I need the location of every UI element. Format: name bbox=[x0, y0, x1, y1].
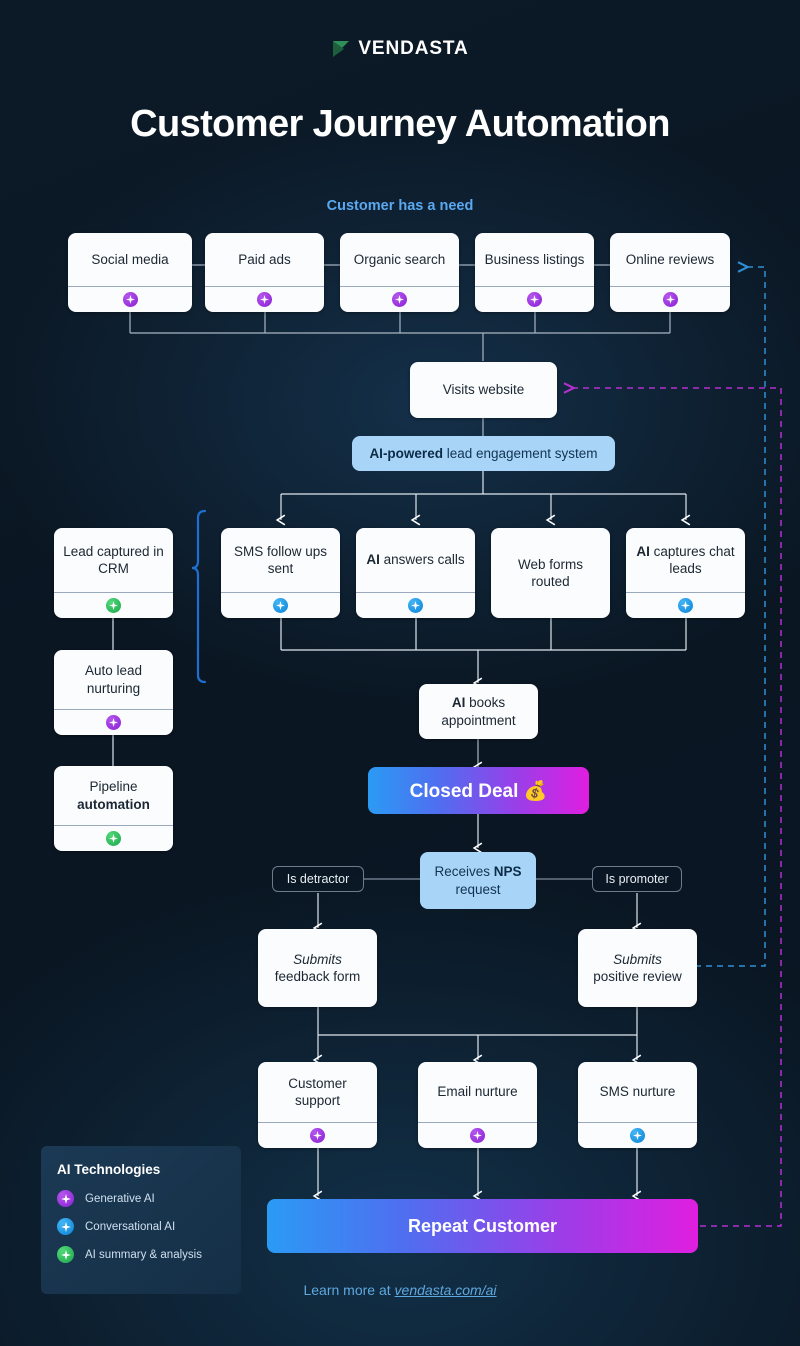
legend-label: Generative AI bbox=[85, 1193, 155, 1205]
vendasta-triangle-logo-icon bbox=[331, 39, 351, 59]
node-footer bbox=[221, 592, 340, 618]
feedback-form-label: feedback form bbox=[275, 969, 361, 984]
node-label: AI captures chat leads bbox=[626, 528, 745, 592]
node-online-reviews[interactable]: Online reviews bbox=[610, 233, 730, 312]
banner-closed-deal[interactable]: Closed Deal 💰 bbox=[368, 767, 589, 814]
node-receives-nps-request[interactable]: Receives NPSrequest bbox=[420, 852, 536, 909]
conversational-ai-icon bbox=[408, 598, 423, 613]
nps-line2: request bbox=[455, 882, 500, 897]
node-footer bbox=[578, 1122, 697, 1148]
positive-review-label: positive review bbox=[593, 969, 682, 984]
generative-ai-icon bbox=[470, 1128, 485, 1143]
generative-ai-icon bbox=[257, 292, 272, 307]
node-label: Auto lead nurturing bbox=[54, 650, 173, 709]
node-label: AI books appointment bbox=[419, 684, 538, 739]
node-label: SMS nurture bbox=[578, 1062, 697, 1122]
node-ai-answers-calls[interactable]: AI answers calls bbox=[356, 528, 475, 618]
node-label: Web forms routed bbox=[491, 528, 610, 618]
node-label: Social media bbox=[68, 233, 192, 286]
conversational-ai-icon bbox=[630, 1128, 645, 1143]
conversational-ai-icon bbox=[273, 598, 288, 613]
node-label: Visits website bbox=[410, 362, 557, 418]
node-ai-captures-chat-leads[interactable]: AI captures chat leads bbox=[626, 528, 745, 618]
footer-url-link[interactable]: vendasta.com/ai bbox=[395, 1282, 497, 1298]
legend-panel: AI Technologies Generative AI Conversati… bbox=[41, 1146, 241, 1294]
nps-line1-plain: Receives bbox=[434, 864, 493, 879]
node-label: Email nurture bbox=[418, 1062, 537, 1122]
ai-summary-icon bbox=[106, 598, 121, 613]
ai-captures-rest: captures chat leads bbox=[650, 544, 735, 576]
ai-answers-rest: answers calls bbox=[380, 552, 465, 567]
node-label: Organic search bbox=[340, 233, 459, 286]
engagement-system-rest: lead engagement system bbox=[443, 446, 598, 461]
node-footer bbox=[205, 286, 324, 312]
node-ai-engagement-system[interactable]: AI-powered lead engagement system bbox=[352, 436, 615, 471]
legend-item-generative-ai: Generative AI bbox=[57, 1190, 225, 1207]
infographic-canvas: VENDASTA Customer Journey Automation Cus… bbox=[0, 0, 800, 1346]
legend-item-conversational-ai: Conversational AI bbox=[57, 1218, 225, 1235]
node-web-forms-routed[interactable]: Web forms routed bbox=[491, 528, 610, 618]
generative-ai-icon bbox=[527, 292, 542, 307]
node-submits-feedback-form[interactable]: Submitsfeedback form bbox=[258, 929, 377, 1007]
node-sms-nurture[interactable]: SMS nurture bbox=[578, 1062, 697, 1148]
node-sms-follow-ups[interactable]: SMS follow ups sent bbox=[221, 528, 340, 618]
node-footer bbox=[340, 286, 459, 312]
subtitle-customer-need: Customer has a need bbox=[0, 198, 800, 214]
node-lead-captured-in-crm[interactable]: Lead captured in CRM bbox=[54, 528, 173, 618]
legend-label: Conversational AI bbox=[85, 1221, 175, 1233]
node-email-nurture[interactable]: Email nurture bbox=[418, 1062, 537, 1148]
ai-summary-icon bbox=[106, 831, 121, 846]
pill-is-promoter[interactable]: Is promoter bbox=[592, 866, 682, 892]
generative-ai-icon bbox=[106, 715, 121, 730]
node-social-media[interactable]: Social media bbox=[68, 233, 192, 312]
node-visits-website[interactable]: Visits website bbox=[410, 362, 557, 418]
pipeline-line2: automation bbox=[77, 797, 150, 812]
conversational-ai-icon bbox=[678, 598, 693, 613]
node-auto-lead-nurturing[interactable]: Auto lead nurturing bbox=[54, 650, 173, 735]
sparkle-icon bbox=[57, 1218, 74, 1235]
node-paid-ads[interactable]: Paid ads bbox=[205, 233, 324, 312]
node-footer bbox=[54, 709, 173, 735]
sparkle-icon bbox=[57, 1190, 74, 1207]
node-label: SMS follow ups sent bbox=[221, 528, 340, 592]
generative-ai-icon bbox=[663, 292, 678, 307]
footer-learn-more: Learn more at vendasta.com/ai bbox=[0, 1282, 800, 1298]
submits-italic: Submits bbox=[613, 952, 662, 967]
node-organic-search[interactable]: Organic search bbox=[340, 233, 459, 312]
sparkle-icon bbox=[57, 1246, 74, 1263]
pipeline-line1: Pipeline bbox=[89, 779, 137, 794]
legend-item-ai-summary: AI summary & analysis bbox=[57, 1246, 225, 1263]
node-ai-books-appointment[interactable]: AI books appointment bbox=[419, 684, 538, 739]
nps-line1-bold: NPS bbox=[494, 864, 522, 879]
node-footer bbox=[258, 1122, 377, 1148]
ai-captures-bold: AI bbox=[636, 544, 650, 559]
node-footer bbox=[626, 592, 745, 618]
ai-answers-bold: AI bbox=[366, 552, 380, 567]
node-label: Online reviews bbox=[610, 233, 730, 286]
node-label: Lead captured in CRM bbox=[54, 528, 173, 592]
node-footer bbox=[418, 1122, 537, 1148]
banner-repeat-customer[interactable]: Repeat Customer bbox=[267, 1199, 698, 1253]
node-submits-positive-review[interactable]: Submitspositive review bbox=[578, 929, 697, 1007]
node-business-listings[interactable]: Business listings bbox=[475, 233, 594, 312]
engagement-system-bold: AI-powered bbox=[369, 446, 443, 461]
generative-ai-icon bbox=[123, 292, 138, 307]
node-label: Business listings bbox=[475, 233, 594, 286]
node-label: Customer support bbox=[258, 1062, 377, 1122]
node-label: AI answers calls bbox=[356, 528, 475, 592]
submits-italic: Submits bbox=[293, 952, 342, 967]
node-label: Submitspositive review bbox=[578, 929, 697, 1007]
pill-is-detractor[interactable]: Is detractor bbox=[272, 866, 364, 892]
node-label: Paid ads bbox=[205, 233, 324, 286]
node-footer bbox=[356, 592, 475, 618]
node-footer bbox=[54, 592, 173, 618]
legend-label: AI summary & analysis bbox=[85, 1249, 202, 1261]
generative-ai-icon bbox=[310, 1128, 325, 1143]
node-footer bbox=[610, 286, 730, 312]
node-label: Pipelineautomation bbox=[54, 766, 173, 825]
node-footer bbox=[475, 286, 594, 312]
node-customer-support[interactable]: Customer support bbox=[258, 1062, 377, 1148]
footer-prefix: Learn more at bbox=[303, 1282, 394, 1298]
brand-logo: VENDASTA bbox=[0, 38, 800, 60]
generative-ai-icon bbox=[392, 292, 407, 307]
brand-name: VENDASTA bbox=[358, 38, 468, 60]
node-footer bbox=[68, 286, 192, 312]
node-pipeline-automation[interactable]: Pipelineautomation bbox=[54, 766, 173, 851]
node-footer bbox=[54, 825, 173, 851]
page-title: Customer Journey Automation bbox=[0, 103, 800, 146]
ai-books-bold: AI bbox=[452, 695, 466, 710]
node-label: Submitsfeedback form bbox=[258, 929, 377, 1007]
legend-title: AI Technologies bbox=[57, 1162, 225, 1177]
